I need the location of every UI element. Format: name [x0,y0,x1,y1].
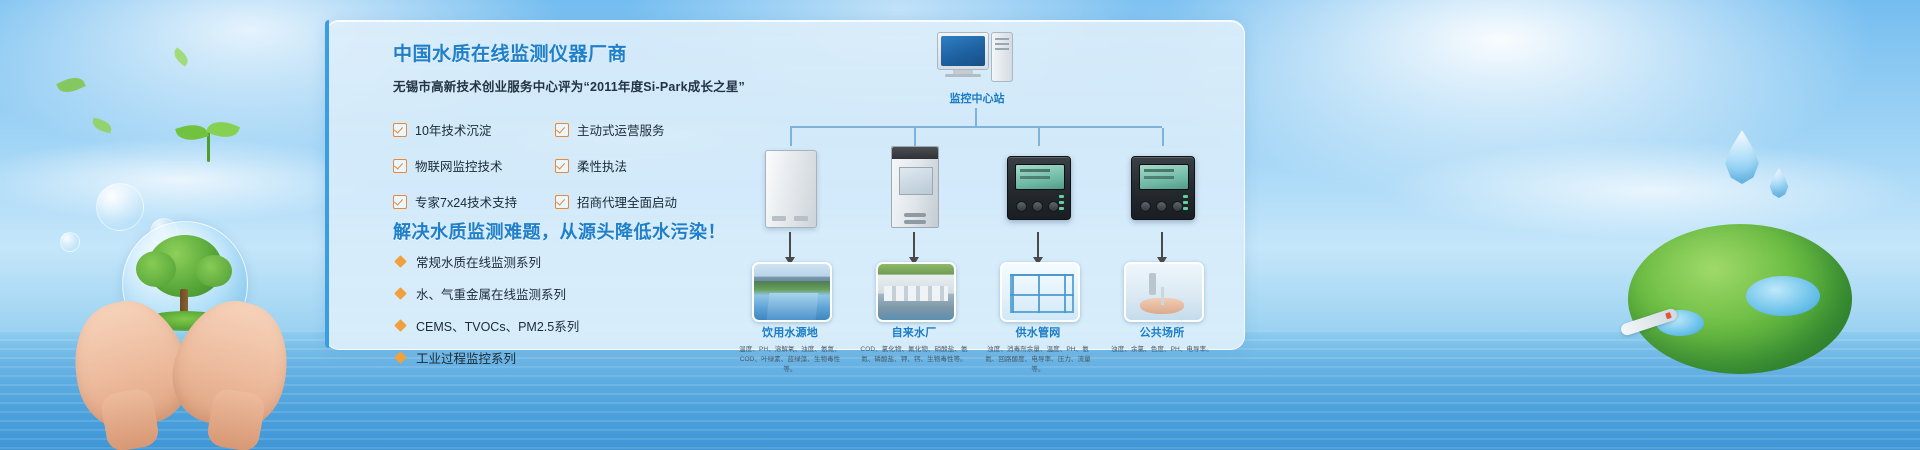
connector-drop [790,128,792,146]
station-params: 温度、PH、溶解氧、浊度、氨氮、COD、叶绿素、蓝绿藻、生物毒性等。 [735,345,845,375]
flow-arrow-icon [1037,232,1039,258]
feature-item: 主动式运营服务 [555,120,703,139]
flow-arrow-icon [1161,232,1163,258]
tap-photo [1124,262,1204,322]
feature-list: 10年技术沉淀 主动式运营服务 物联网监控技术 柔性执法 专家7x24技术支持 … [393,120,703,211]
station-params: COD、氯化物、氟化物、硝酸盐、氨氮、磷酸盐、钾、钙、生物毒性等。 [859,345,969,365]
feature-item: 物联网监控技术 [393,156,555,175]
list-item: CEMS、TVOCs、PM2.5系列 [396,316,726,335]
waterworks-photo [876,262,956,322]
series-label: CEMS、TVOCs、PM2.5系列 [416,316,579,335]
flow-arrow-icon [913,232,915,258]
station-title: 供水管网 [983,324,1093,340]
connector-trunk [975,108,977,126]
list-item: 常规水质在线监测系列 [396,252,726,271]
feature-label: 10年技术沉淀 [415,120,491,139]
river-photo [752,262,832,322]
feature-label: 主动式运营服务 [577,120,665,139]
feature-label: 专家7x24技术支持 [415,192,517,211]
banner-stage: 中国水质在线监测仪器厂商 无锡市高新技术创业服务中心评为“2011年度Si-Pa… [0,0,1920,450]
connector-drop [914,128,916,146]
monitoring-topology-diagram: 监控中心站 饮用水源地 温度、PH、溶解氧、浊度、氨氮、COD、叶绿素、蓝绿藻、… [752,28,1222,328]
controller-panel-icon [1129,146,1195,228]
feature-item: 10年技术沉淀 [393,120,555,139]
station-title: 饮用水源地 [735,324,845,340]
sprout-icon [176,118,242,162]
connector-bus [790,126,1162,128]
station-caption: 饮用水源地 温度、PH、溶解氧、浊度、氨氮、COD、叶绿素、蓝绿藻、生物毒性等。 [735,324,845,375]
series-label: 常规水质在线监测系列 [416,252,541,271]
checkbox-icon [393,123,407,137]
checkbox-icon [393,159,407,173]
feature-label: 柔性执法 [577,156,627,175]
pipeline-diagram-photo [1000,262,1080,322]
diamond-bullet-icon [394,319,407,332]
feature-item: 专家7x24技术支持 [393,192,555,211]
station-caption: 供水管网 浊度、消毒剂余量、温度、PH、氨氮、回路酸度、电导率、压力、流量等。 [983,324,1093,375]
headline-block: 中国水质在线监测仪器厂商 无锡市高新技术创业服务中心评为“2011年度Si-Pa… [393,43,733,95]
analyzer-rack-icon [881,146,947,228]
feature-label: 物联网监控技术 [415,156,503,175]
checkbox-icon [555,159,569,173]
hands-holding-tree-globe [70,215,300,450]
checkbox-icon [393,195,407,209]
section-title: 解决水质监测难题，从源头降低水污染！ [393,218,726,244]
station-title: 自来水厂 [859,324,969,340]
checkbox-icon [555,195,569,209]
panel-accent-bar [325,20,329,348]
station-params: 浊度、消毒剂余量、温度、PH、氨氮、回路酸度、电导率、压力、流量等。 [983,345,1093,375]
list-item: 工业过程监控系列 [396,348,726,367]
diamond-bullet-icon [394,287,407,300]
product-series-list: 常规水质在线监测系列 水、气重金属在线监测系列 CEMS、TVOCs、PM2.5… [396,252,726,380]
checkbox-icon [555,123,569,137]
controller-panel-icon [1005,146,1071,228]
series-label: 水、气重金属在线监测系列 [416,284,566,303]
analyzer-cabinet-icon [757,146,823,228]
diamond-bullet-icon [394,255,407,268]
station-params: 浊度、余氯、色度、PH、电导率。 [1107,345,1217,355]
page-subtitle: 无锡市高新技术创业服务中心评为“2011年度Si-Park成长之星” [393,76,733,95]
connector-drop [1038,128,1040,146]
green-earth-globe [1628,224,1852,374]
station-title: 公共场所 [1107,324,1217,340]
station-caption: 自来水厂 COD、氯化物、氟化物、硝酸盐、氨氮、磷酸盐、钾、钙、生物毒性等。 [859,324,969,365]
feature-label: 招商代理全面启动 [577,192,677,211]
feature-item: 柔性执法 [555,156,703,175]
diamond-bullet-icon [394,351,407,364]
center-station-label: 监控中心站 [902,90,1052,106]
page-title: 中国水质在线监测仪器厂商 [393,43,733,67]
connector-drop [1162,128,1164,146]
feature-item: 招商代理全面启动 [555,192,703,211]
desktop-computer-icon [937,32,1013,84]
list-item: 水、气重金属在线监测系列 [396,284,726,303]
station-caption: 公共场所 浊度、余氯、色度、PH、电导率。 [1107,324,1217,355]
series-label: 工业过程监控系列 [416,348,516,367]
flow-arrow-icon [789,232,791,258]
